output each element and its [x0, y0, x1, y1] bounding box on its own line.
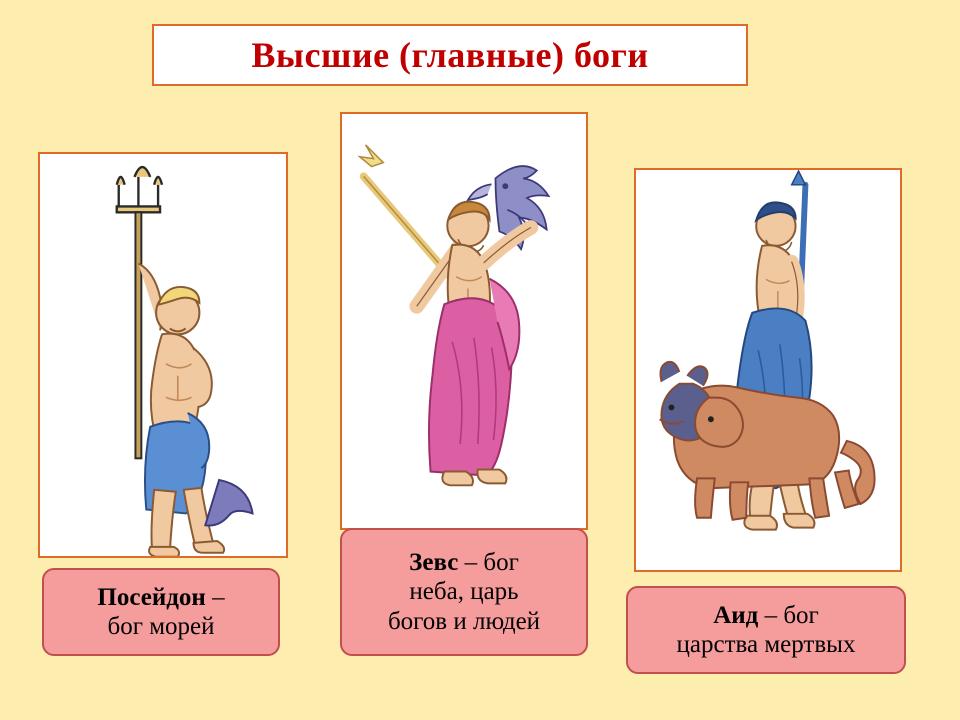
hades-illustration — [636, 170, 900, 570]
caption-zeus-dash: – — [458, 549, 483, 576]
caption-hades-line2: царства мертвых — [677, 631, 856, 658]
zeus-illustration — [342, 114, 586, 528]
slide: Высшие (главные) боги — [0, 0, 960, 720]
caption-hades-text: Аид – бог царства мертвых — [677, 601, 856, 660]
caption-poseidon-dash: – — [206, 584, 225, 611]
caption-zeus-line3: богов и людей — [388, 608, 540, 635]
poseidon-illustration — [40, 154, 286, 556]
page-title: Высшие (главные) боги — [251, 34, 648, 76]
image-frame-poseidon — [38, 152, 288, 558]
caption-zeus-line2: неба, царь — [409, 578, 518, 605]
caption-hades: Аид – бог царства мертвых — [626, 586, 906, 674]
caption-hades-rest: бог — [783, 602, 818, 629]
caption-zeus: Зевс – бог неба, царь богов и людей — [340, 528, 588, 656]
caption-zeus-text: Зевс – бог неба, царь богов и людей — [388, 548, 540, 637]
image-frame-hades — [634, 168, 902, 572]
caption-poseidon: Посейдон – бог морей — [42, 568, 280, 656]
slide-title-box: Высшие (главные) боги — [152, 24, 748, 86]
caption-poseidon-line2: бог морей — [107, 613, 214, 640]
caption-hades-dash: – — [758, 602, 783, 629]
caption-zeus-rest: бог — [483, 549, 518, 576]
caption-hades-name: Аид — [713, 602, 758, 629]
caption-poseidon-name: Посейдон — [97, 584, 205, 611]
caption-poseidon-text: Посейдон – бог морей — [97, 583, 224, 642]
caption-zeus-name: Зевс — [409, 549, 458, 576]
image-frame-zeus — [340, 112, 588, 530]
